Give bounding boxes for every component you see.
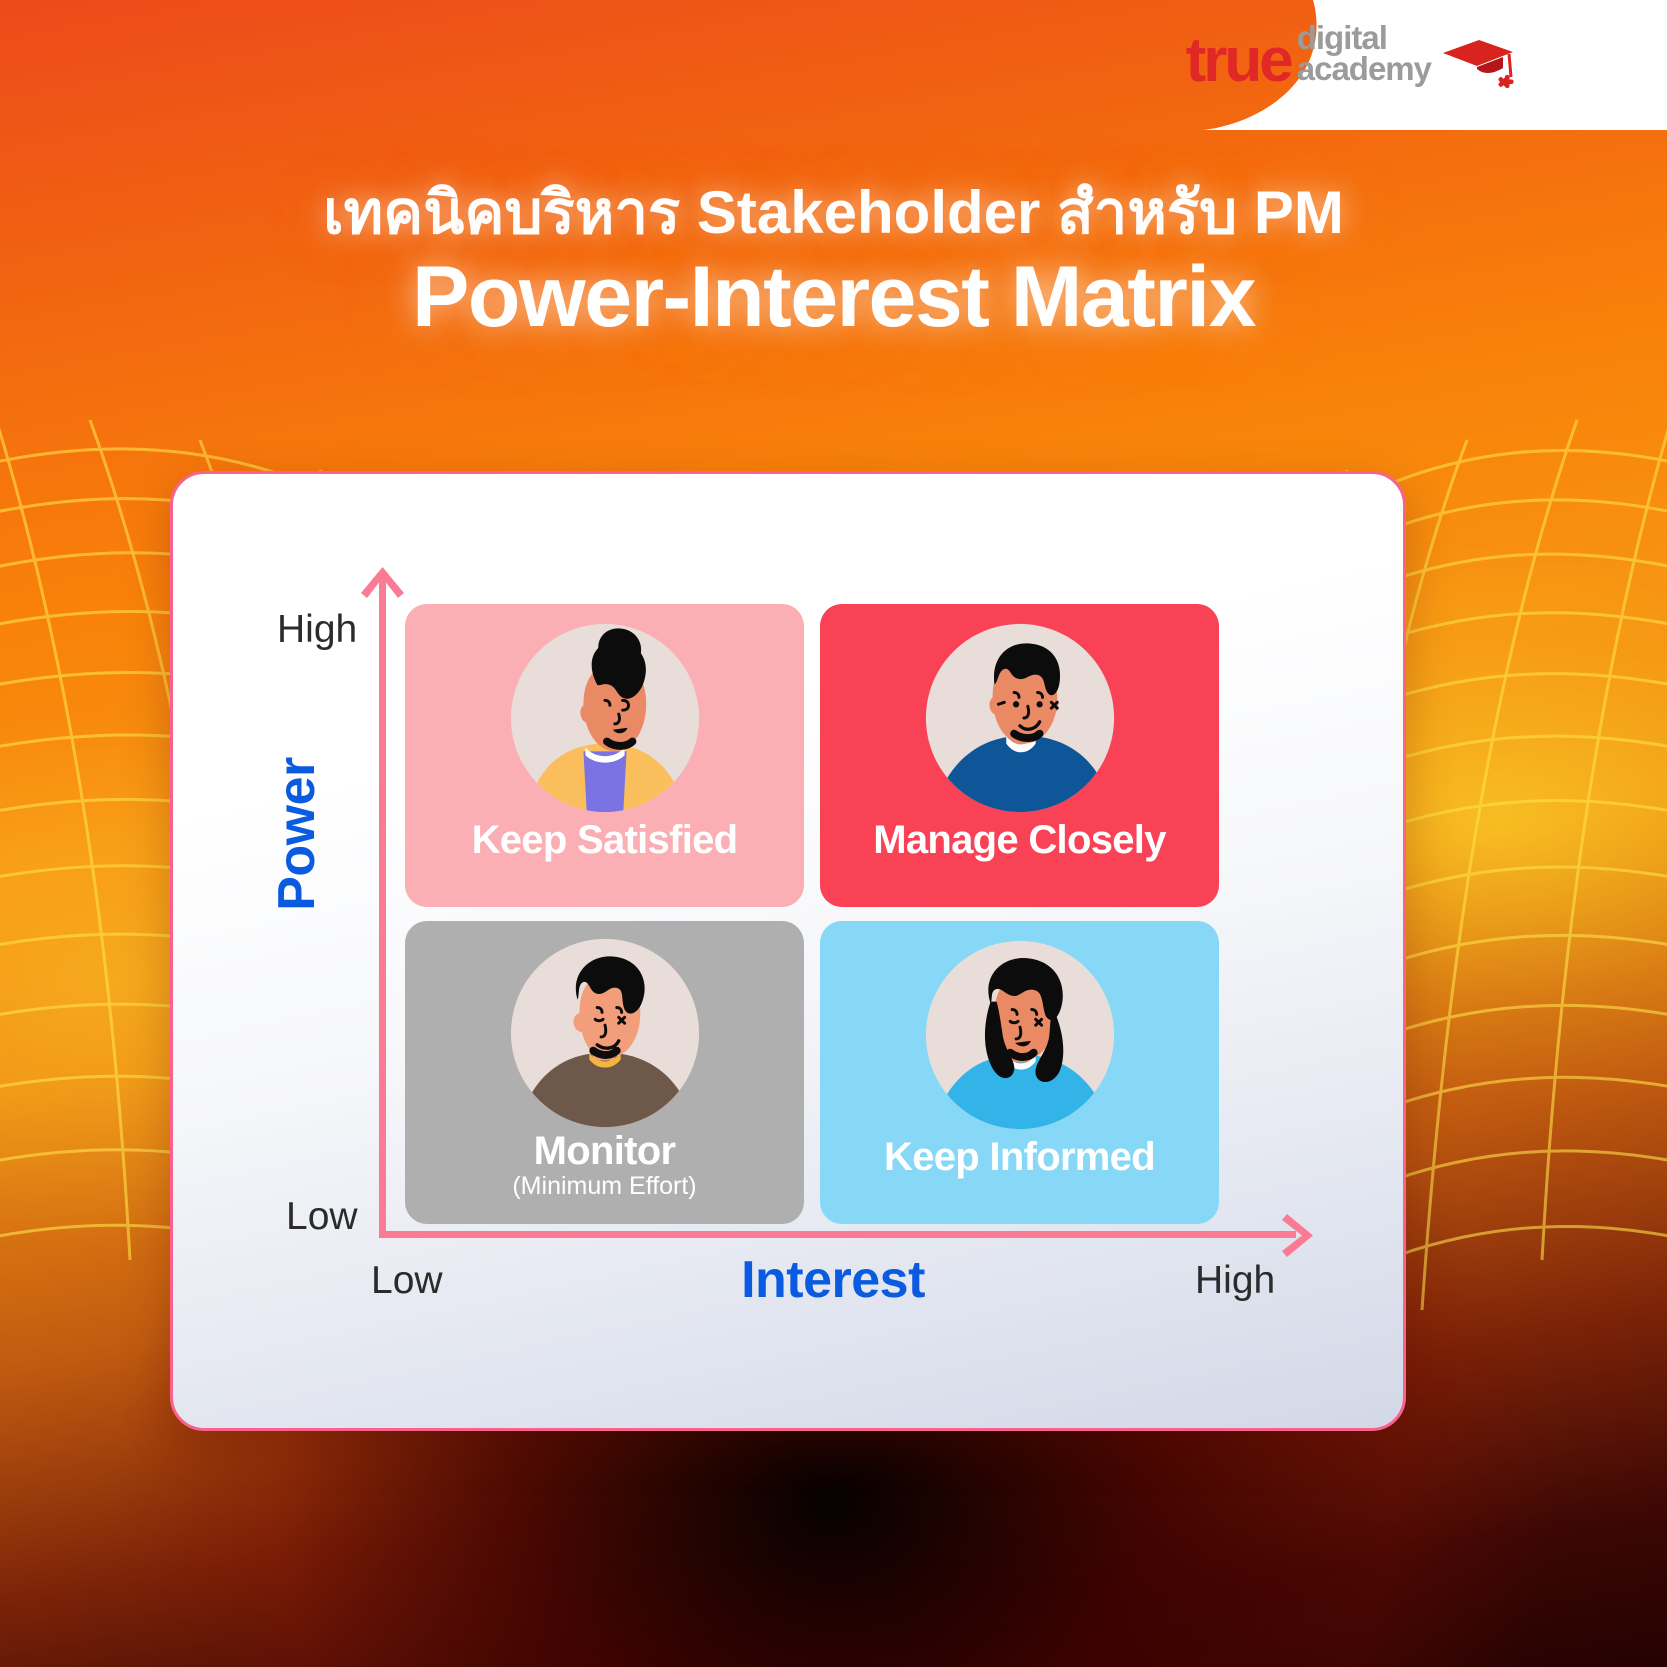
logo-subtext: digital academy xyxy=(1297,22,1431,87)
power-axis-arrow-icon xyxy=(359,567,406,609)
quadrant-monitor[interactable]: Monitor (Minimum Effort) xyxy=(405,921,804,1224)
interest-axis-line xyxy=(379,1231,1296,1238)
quadrant-label-manage-closely: Manage Closely xyxy=(873,820,1166,861)
page-title: เทคนิคบริหาร Stakeholder สำหรับ PM Power… xyxy=(0,178,1667,345)
woman-long-hair-avatar xyxy=(922,937,1118,1133)
power-axis-title: Power xyxy=(267,704,327,964)
quadrant-manage-closely[interactable]: Manage Closely xyxy=(820,604,1219,907)
power-axis-low-label: Low xyxy=(286,1195,358,1239)
logo-true-text: true xyxy=(1186,36,1291,87)
headline-line-1: เทคนิคบริหาร Stakeholder สำหรับ PM xyxy=(0,178,1667,247)
man-brown-shirt-avatar xyxy=(507,935,703,1131)
headline-line-2: Power-Interest Matrix xyxy=(0,249,1667,345)
brand-logo[interactable]: true digital academy xyxy=(1186,22,1517,87)
quadrant-label-keep-informed: Keep Informed xyxy=(884,1137,1155,1178)
quadrant-keep-informed[interactable]: Keep Informed xyxy=(820,921,1219,1224)
interest-axis-low-label: Low xyxy=(371,1259,443,1303)
logo-digital-text: digital xyxy=(1297,22,1431,53)
graduation-cap-icon xyxy=(1439,37,1517,87)
quadrant-label-monitor: Monitor xyxy=(534,1131,676,1172)
quadrant-label-keep-satisfied: Keep Satisfied xyxy=(472,820,738,861)
woman-bun-avatar xyxy=(507,620,703,816)
interest-axis-high-label: High xyxy=(1195,1259,1275,1303)
power-axis-high-label: High xyxy=(277,608,357,652)
matrix-card: High Low Power Low High Interest xyxy=(170,471,1406,1431)
matrix-quadrants: Keep Satisfied xyxy=(405,604,1219,1224)
man-blue-shirt-avatar xyxy=(922,620,1118,816)
quadrant-sublabel-monitor: (Minimum Effort) xyxy=(512,1173,696,1199)
power-axis-line xyxy=(379,578,386,1238)
quadrant-keep-satisfied[interactable]: Keep Satisfied xyxy=(405,604,804,907)
interest-axis-title: Interest xyxy=(533,1250,1133,1310)
logo-academy-text: academy xyxy=(1297,53,1431,84)
interest-axis-arrow-icon xyxy=(1271,1212,1313,1259)
